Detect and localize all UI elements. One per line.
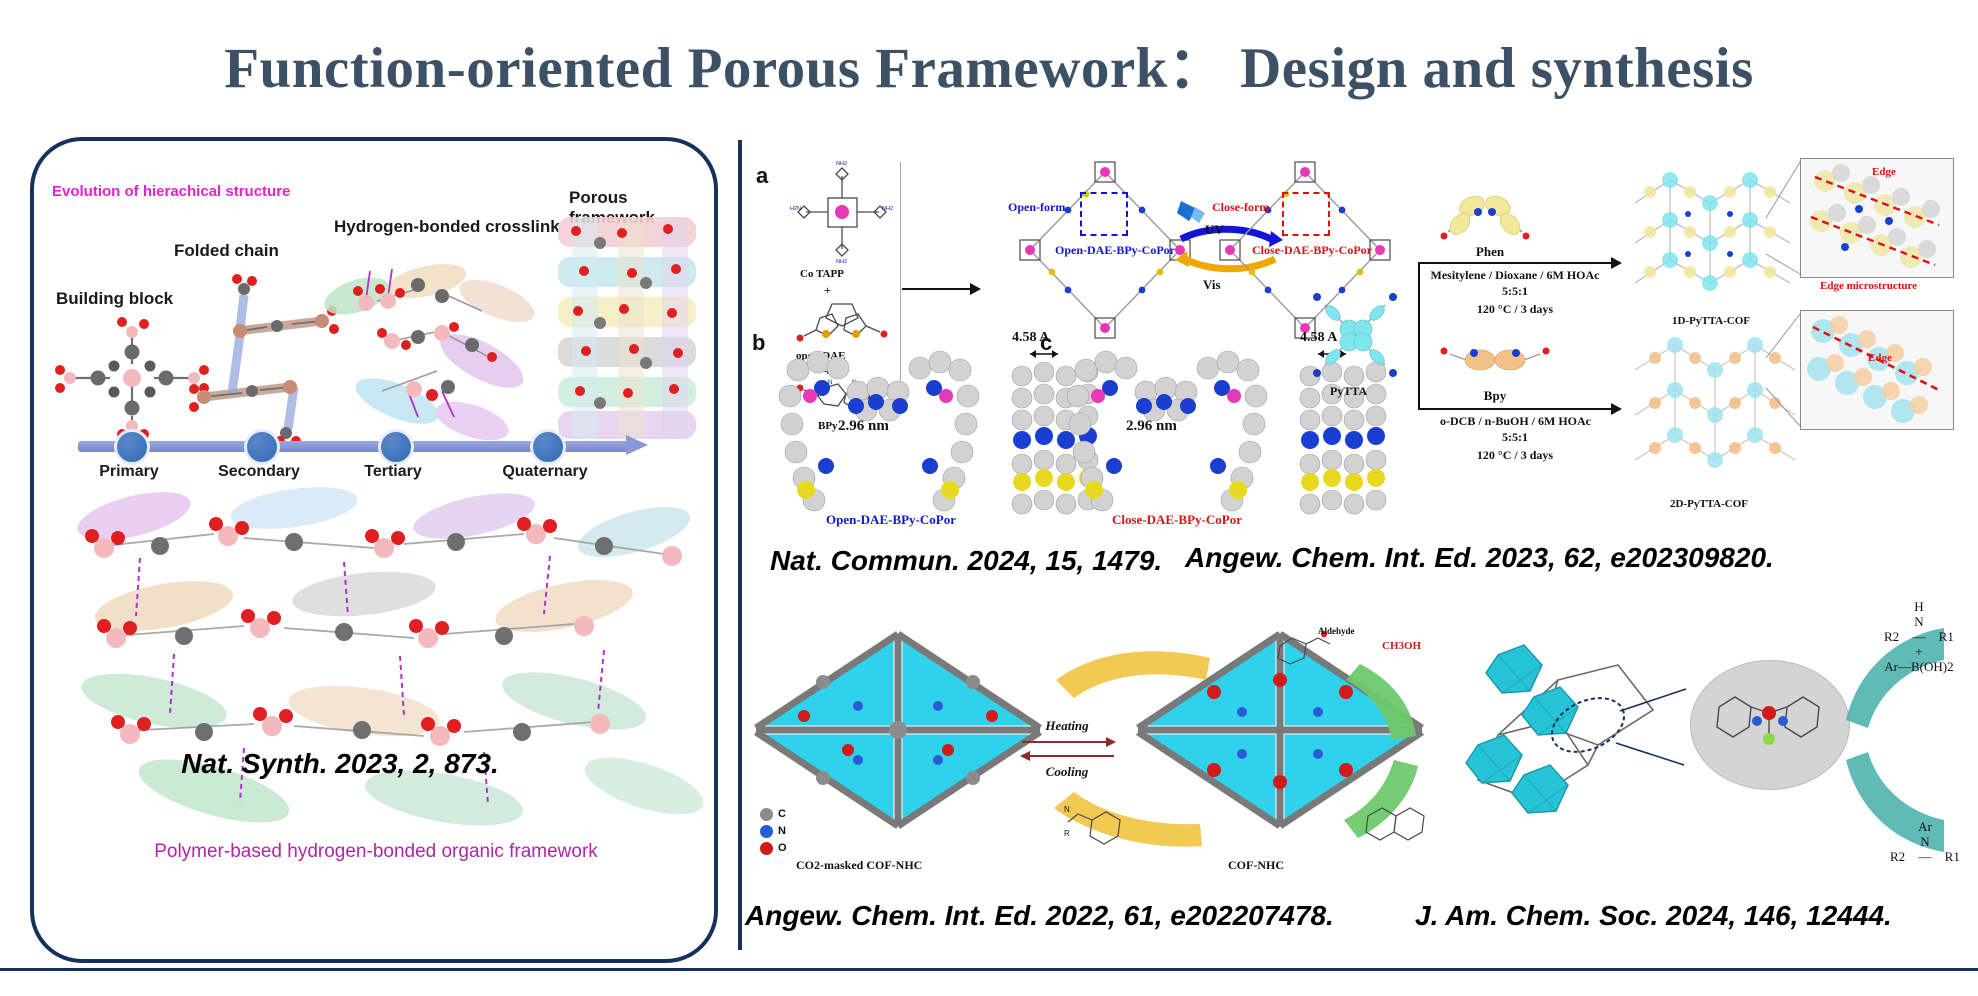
svg-text:NH2: NH2 (882, 206, 893, 212)
boronic-acid: Ar—B(OH)2 (1884, 660, 1954, 675)
citation-nat-commun: Nat. Commun. 2024, 15, 1479. (770, 545, 1162, 577)
amine-reagent-formula: H N R2 — R1 + Ar—B(OH)2 (1884, 600, 1954, 675)
timeline-node-secondary[interactable] (244, 429, 280, 465)
stage-label-building-block: Building block (56, 289, 173, 309)
open-dae-monomer (790, 296, 895, 348)
label-edge-microstructure: Edge microstructure (1820, 280, 1917, 292)
stage-label-folded-chain: Folded chain (174, 241, 279, 261)
svg-text:H2N: H2N (790, 206, 801, 212)
solvent-top: Mesitylene / Dioxane / 6M HOAc (1410, 268, 1620, 283)
panel-b-letter: b (752, 330, 765, 356)
amine-reagent-icon: N R (1062, 800, 1182, 860)
label-pore-size-c: 2.96 nm (1126, 418, 1177, 435)
hydrogen-bonded-crosslink-cluster (322, 241, 552, 451)
amine-h: H (1884, 600, 1954, 615)
panel-c-letter: c (1040, 330, 1052, 356)
hof-network-image (44, 486, 704, 841)
panel-divider (738, 140, 742, 950)
svg-text:NH2: NH2 (836, 161, 847, 167)
legend-dot-carbon (760, 808, 773, 821)
label-close-product: Close-DAE-BPy-CoPor (1252, 243, 1372, 258)
legend-label-carbon: C (778, 808, 786, 820)
label-pytta: PyTTA (1330, 384, 1367, 399)
label-pore-size-b: 2.96 nm (838, 418, 889, 435)
bpy-monomer-right (1430, 340, 1560, 384)
svg-text:R: R (1064, 829, 1070, 838)
solvent-bottom: o-DCB / n-BuOH / 6M HOAc (1408, 414, 1623, 429)
legend-dot-nitrogen (760, 825, 773, 838)
panel-a-letter: a (756, 163, 768, 189)
left-figure-panel: Evolution of hierachical structure Build… (30, 137, 718, 963)
product-r1: R1 (1945, 849, 1960, 864)
amine-n: N (1884, 615, 1954, 630)
citation-angew-2022: Angew. Chem. Int. Ed. 2022, 61, e2022074… (745, 900, 1334, 932)
timeline-node-primary[interactable] (114, 429, 150, 465)
caption-panel-b: Open-DAE-BPy-CoPor (826, 512, 956, 528)
inset-annotation-edge-top: Edge (1872, 166, 1896, 178)
hof-caption: Polymer-based hydrogen-bonded organic fr… (126, 841, 626, 863)
pytta-monomer (1305, 285, 1405, 385)
svg-text:N: N (1064, 805, 1070, 814)
panel-a-arrow-line (902, 288, 972, 290)
caption-2d-pytta-cof: 2D-PyTTA-COF (1670, 498, 1748, 510)
citation-jacs-2024: J. Am. Chem. Soc. 2024, 146, 12444. (1415, 900, 1892, 932)
porous-framework-block (554, 213, 700, 443)
caption-1d-pytta-cof: 1D-PyTTA-COF (1672, 315, 1750, 327)
label-bpy-right: Bpy (1460, 388, 1530, 404)
product-formula: Ar N R2 — R1 (1890, 820, 1960, 865)
phen-monomer (1430, 190, 1540, 242)
label-methanol: CH3OH (1382, 640, 1421, 652)
citation-angew-2023: Angew. Chem. Int. Ed. 2023, 62, e2023098… (1185, 542, 1774, 574)
timeline-label-tertiary: Tertiary (333, 463, 453, 481)
open-form-highlight-box (1080, 192, 1128, 236)
co-tapp-monomer: NH2NH2 H2NNH2 (790, 160, 895, 265)
co2-masked-cof-nhc-structure (748, 620, 1048, 850)
evolution-label: Evolution of hierachical structure (52, 183, 290, 200)
label-co-tapp: Co TAPP (800, 268, 844, 280)
label-open-form: Open-form (1008, 200, 1065, 215)
legend-label-nitrogen: N (778, 825, 786, 837)
slide-bottom-rule (0, 968, 1978, 971)
close-form-highlight-box (1282, 192, 1330, 236)
timeline-label-primary: Primary (69, 463, 189, 481)
amine-r2: R2 (1884, 629, 1899, 644)
label-close-form: Close-form (1212, 200, 1269, 215)
plus-sign-right: + (1884, 645, 1954, 660)
citation-nat-synth: Nat. Synth. 2023, 2, 873. (60, 748, 620, 780)
reaction-arrow-line-bottom (1418, 408, 1613, 410)
label-aldehyde: Aldehyde (1318, 626, 1355, 636)
legend-label-oxygen: O (778, 842, 787, 854)
timeline-node-quaternary[interactable] (530, 429, 566, 465)
ratio-bottom: 5:5:1 (1410, 430, 1620, 445)
svg-text:NH2: NH2 (836, 259, 847, 265)
reaction-arrow-line-top (1418, 262, 1613, 264)
stage-label-hydrogen-bonded-crosslink: Hydrogen-bonded crosslink (334, 217, 560, 237)
page-title: Function-oriented Porous Framework： Desi… (0, 22, 1978, 104)
amine-r1: R1 (1939, 629, 1954, 644)
product-n: N (1890, 835, 1960, 850)
ratio-top: 5:5:1 (1410, 284, 1620, 299)
caption-panel-c: Close-DAE-BPy-CoPor (1112, 512, 1242, 528)
conditions-bottom: 120 °C / 3 days (1410, 448, 1620, 463)
label-open-product: Open-DAE-BPy-CoPor (1055, 243, 1175, 258)
product-r2: R2 (1890, 849, 1905, 864)
panel-a-arrow-head (970, 283, 981, 295)
active-site-zoom-circle (1690, 660, 1850, 790)
label-phen: Phen (1455, 244, 1525, 260)
timeline-arrow-head (626, 435, 648, 455)
caption-co2-masked-cof-nhc: CO2-masked COF-NHC (796, 858, 922, 873)
product-ar: Ar (1890, 820, 1960, 835)
timeline-label-quaternary: Quaternary (485, 463, 605, 481)
evolution-timeline: Primary Secondary Tertiary Quaternary (78, 437, 668, 453)
conditions-top: 120 °C / 3 days (1410, 302, 1620, 317)
timeline-node-tertiary[interactable] (378, 429, 414, 465)
timeline-label-secondary: Secondary (199, 463, 319, 481)
inset-annotation-edge-bottom: Edge (1868, 352, 1892, 364)
edge-microstructure-inset-bottom (1800, 310, 1954, 430)
inset-connector-lines (1760, 158, 1820, 438)
legend-dot-oxygen (760, 842, 773, 855)
